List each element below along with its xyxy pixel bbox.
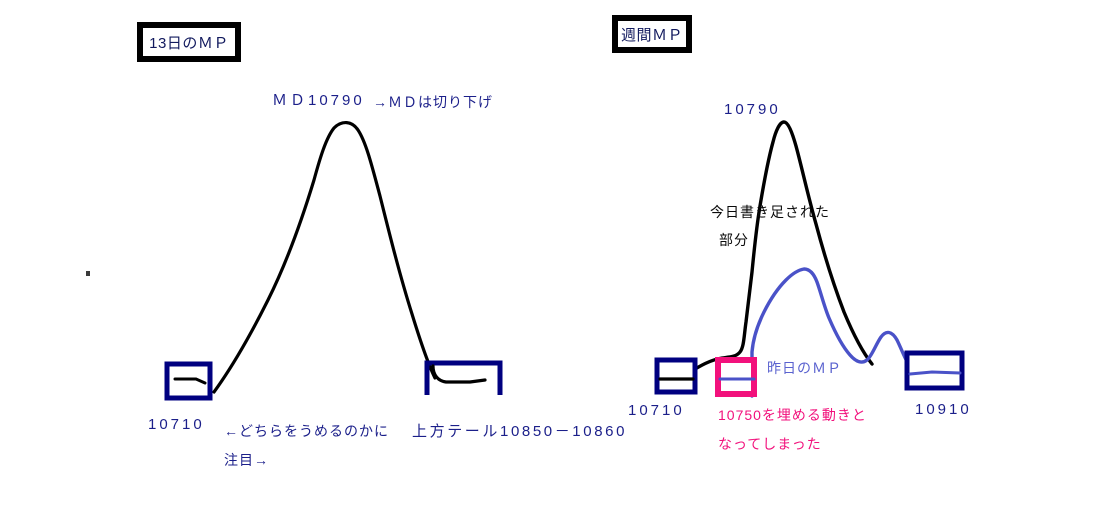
right-chart-yesterday-label: 昨日のＭＰ — [767, 358, 842, 379]
right-chart-pink-note-line1: 10750を埋める動きと — [718, 405, 867, 426]
right-chart-right-box — [907, 353, 962, 388]
right-chart-right-box-tick — [910, 372, 960, 374]
right-chart-title-label: 週間ＭＰ — [621, 24, 683, 45]
left-chart-title-label: 13日のＭＰ — [149, 32, 229, 53]
left-chart-profile-curve — [214, 123, 435, 392]
right-chart-added-note-line2: 部分 — [719, 230, 749, 251]
right-chart-today-curve — [690, 122, 872, 372]
left-chart-low-box-note-line2: 注目→ — [224, 450, 269, 471]
left-chart-low-box-label: 10710 — [148, 414, 205, 437]
curves-layer — [0, 0, 1117, 524]
right-chart-pink-note-line2: なってしまった — [718, 434, 822, 455]
right-chart-peak-label: 10790 — [724, 99, 781, 122]
left-chart-tail-label: 上方テール10850－10860 — [412, 421, 627, 444]
left-chart-peak-note: →ＭＤは切り下げ — [373, 92, 493, 113]
left-chart-tail-box-tick — [433, 366, 485, 382]
left-chart-title-box: 13日のＭＰ — [137, 22, 241, 62]
stray-dot-mark — [86, 271, 90, 276]
left-chart-low-box-tick — [175, 379, 205, 383]
right-chart-title-box: 週間ＭＰ — [612, 15, 692, 53]
left-chart-low-box — [167, 364, 210, 398]
right-chart-pink-box — [718, 360, 754, 394]
right-chart-added-note-line1: 今日書き足された — [710, 202, 830, 223]
right-chart-right-box-label: 10910 — [915, 399, 972, 422]
right-chart-left-box — [657, 360, 695, 392]
left-chart-tail-box — [427, 363, 500, 395]
left-chart-low-box-note-line1: ←どちらをうめるのかに — [224, 421, 389, 442]
diagram-canvas: 13日のＭＰ 週間ＭＰ ＭＤ10790 →ＭＤは切り — [0, 0, 1117, 524]
left-chart-peak-label: ＭＤ10790 — [272, 90, 365, 113]
right-chart-left-box-label: 10710 — [628, 400, 685, 423]
